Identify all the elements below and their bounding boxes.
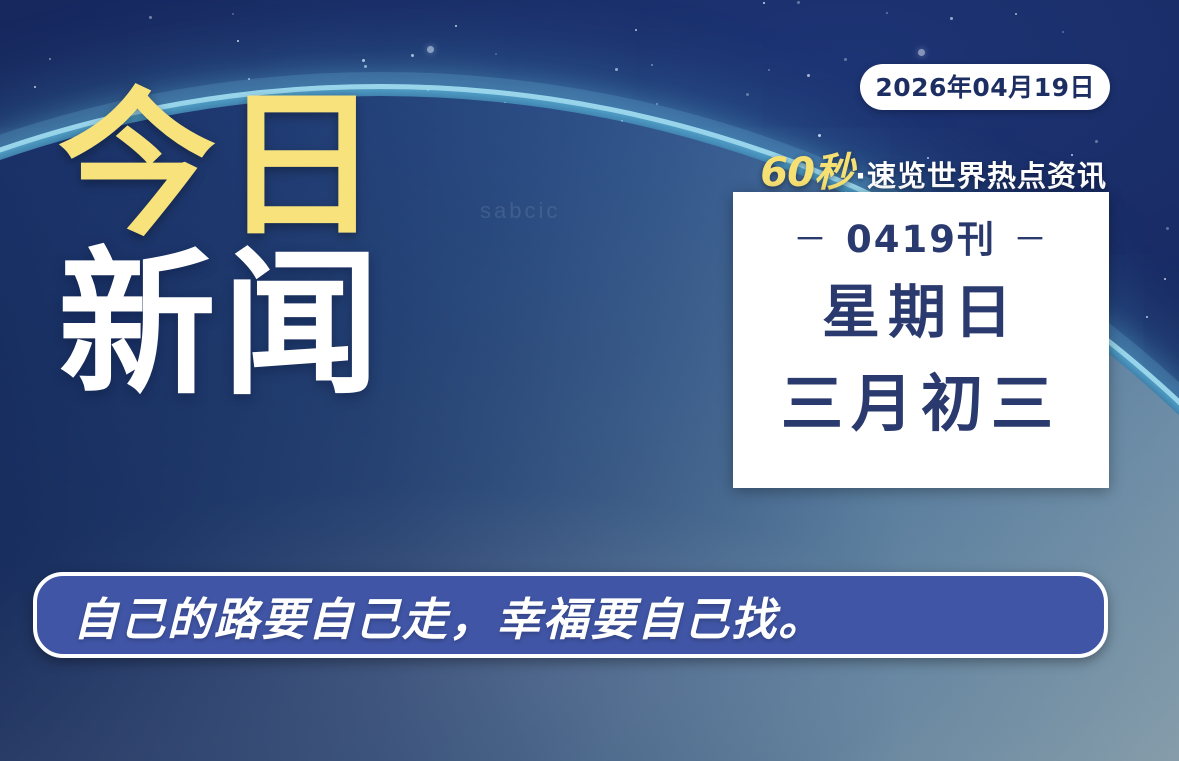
- date-badge: 2026年04月19日: [860, 64, 1110, 110]
- title-line-news: 新闻: [58, 251, 386, 400]
- weekday-label: 星期日: [822, 283, 1020, 341]
- dash-right: －: [1013, 212, 1049, 261]
- poster-title: 今日 新闻: [58, 92, 386, 399]
- issue-line: － 0419刊 －: [793, 209, 1049, 263]
- tagline-highlight: 60秒: [760, 140, 853, 198]
- issue-card: － 0419刊 － 星期日 三月初三: [733, 192, 1109, 488]
- tagline: 60秒 ·速览世界热点资讯: [760, 140, 1107, 198]
- quote-banner: 自己的路要自己走，幸福要自己找。: [33, 572, 1108, 658]
- quote-text: 自己的路要自己走，幸福要自己找。: [73, 583, 825, 648]
- title-line-today: 今日: [58, 92, 386, 241]
- issue-number: 0419刊: [846, 209, 996, 263]
- news-poster: sabcic 今日 新闻 2026年04月19日 60秒 ·速览世界热点资讯 －…: [0, 0, 1179, 761]
- tagline-rest: ·速览世界热点资讯: [855, 153, 1107, 195]
- dash-left: －: [793, 212, 829, 261]
- watermark-text: sabcic: [480, 198, 560, 224]
- lunar-date-label: 三月初三: [781, 373, 1061, 435]
